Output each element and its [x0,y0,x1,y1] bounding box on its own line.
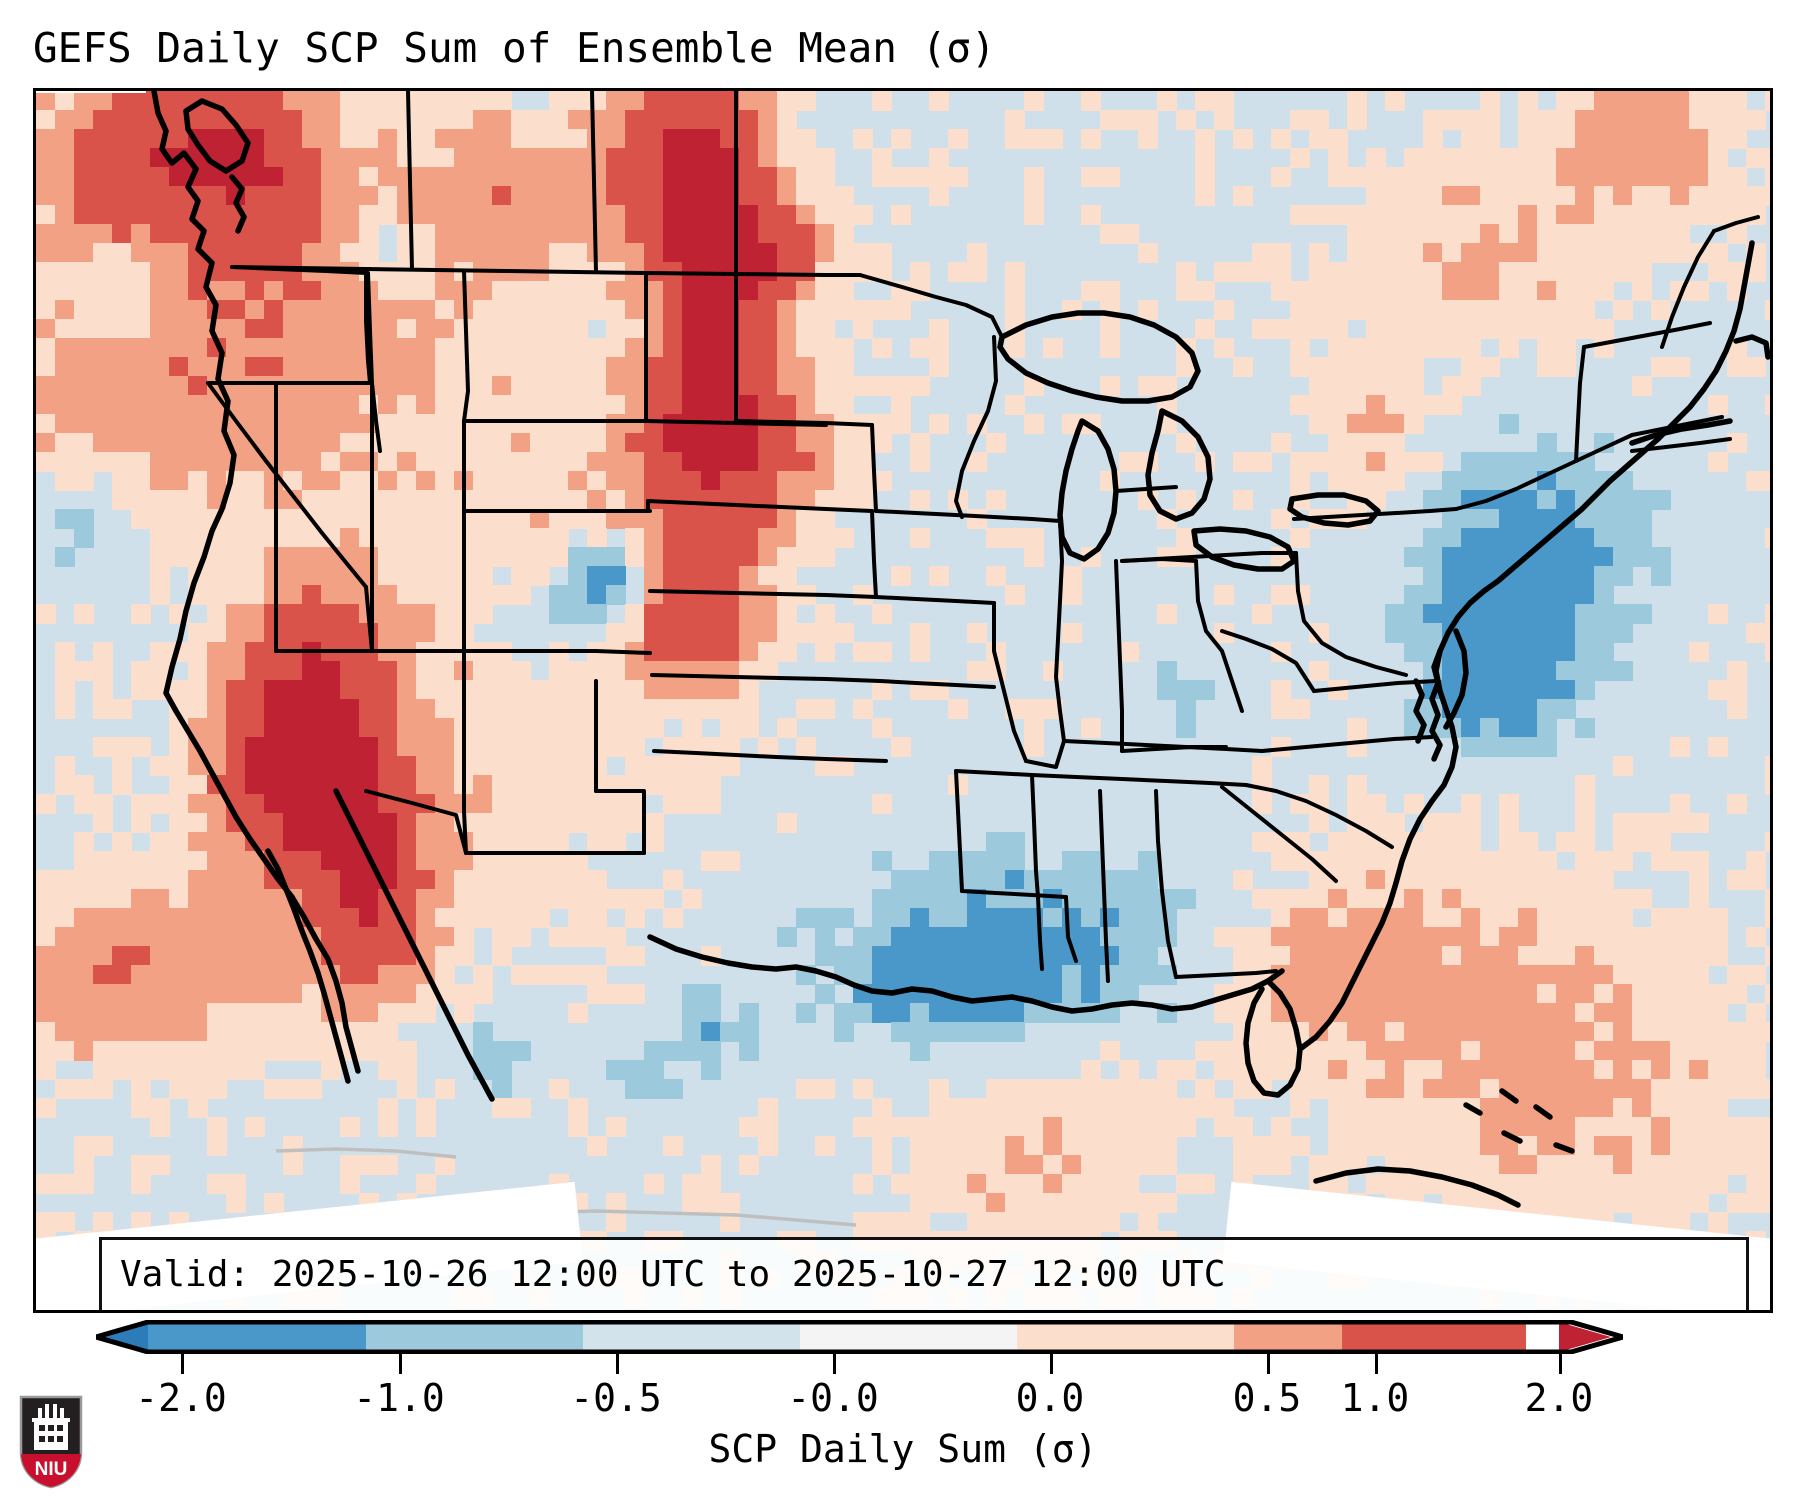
colorbar-segment [1017,1322,1234,1352]
colorbar-tick [616,1354,619,1374]
colorbar-extend-min-arrow [96,1322,148,1352]
colorbar-ticks [33,1354,1773,1376]
geo-boundaries-svg [36,91,1770,1310]
colorbar-axis-label: SCP Daily Sum (σ) [33,1424,1773,1474]
page-title: GEFS Daily SCP Sum of Ensemble Mean (σ) [33,18,1773,78]
colorbar-tick-label: 1.0 [1341,1374,1410,1422]
colorbar-tick-label: 2.0 [1525,1374,1594,1422]
run-time-text: Run: 2025-10-01 00:00 UTC [120,1302,1728,1313]
colorbar-tick-label: 0.5 [1233,1374,1302,1422]
map-corner-wedge-top-left [33,88,146,93]
colorbar-tick [1375,1354,1378,1374]
niu-shield-logo: NIU [18,1394,84,1490]
colorbar-tick [833,1354,836,1374]
logo-text: NIU [35,1459,68,1480]
colorbar-segment [366,1322,583,1352]
colorbar-tick-label: -0.5 [570,1374,662,1422]
colorbar-tick-label: -1.0 [353,1374,445,1422]
colorbar-tick-labels: -2.0-1.0-0.5-0.00.00.51.02.0 [33,1374,1773,1422]
colorbar-tick [1050,1354,1053,1374]
colorbar-tick [399,1354,402,1374]
colorbar-segment [148,1322,366,1352]
colorbar-segment [1342,1322,1526,1352]
colorbar: -2.0-1.0-0.5-0.00.00.51.02.0 [33,1320,1773,1362]
weather-map-panel: Valid: 2025-10-26 12:00 UTC to 2025-10-2… [33,88,1773,1313]
colorbar-gradient [148,1322,1559,1352]
colorbar-segment [1234,1322,1342,1352]
colorbar-segment [583,1322,800,1352]
state-borders-group [208,91,1758,981]
colorbar-tick-label: 0.0 [1016,1374,1085,1422]
forecast-info-box: Valid: 2025-10-26 12:00 UTC to 2025-10-2… [99,1237,1749,1313]
geography-overlay [36,91,1770,1310]
map-canvas [36,91,1770,1310]
colorbar-tick-label: -2.0 [135,1374,227,1422]
coastline-group [154,91,1768,1205]
colorbar-tick-label: -0.0 [787,1374,879,1422]
colorbar-segment [800,1322,1017,1352]
colorbar-tick [1559,1354,1562,1374]
colorbar-extend-max-arrow [1559,1322,1611,1352]
colorbar-tick [1267,1354,1270,1374]
valid-time-text: Valid: 2025-10-26 12:00 UTC to 2025-10-2… [120,1248,1728,1302]
colorbar-tick [181,1354,184,1374]
